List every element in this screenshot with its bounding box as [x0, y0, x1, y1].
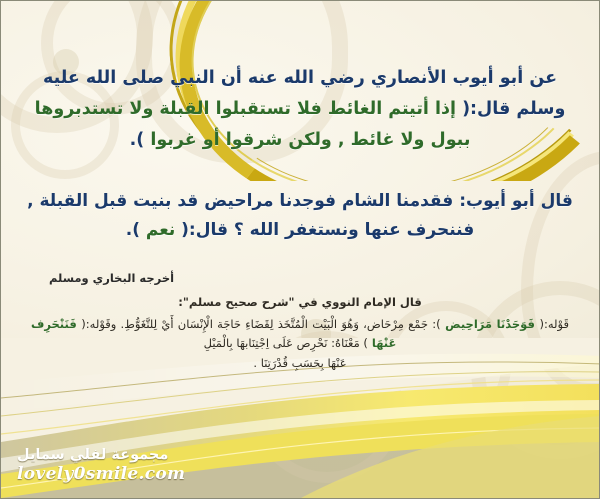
hadith-closing: ). — [130, 130, 145, 150]
hadith-quote: إذا أتيتم الغائط فلا تستقبلوا القبلة ولا… — [35, 99, 471, 150]
commentary-part-3: ) مَعْنَاهُ: نَحْرِص عَلَى اِجْتِنَابهَا… — [204, 336, 368, 350]
statement-quote: نعم — [140, 220, 181, 240]
hadith-text: عن أبو أيوب الأنصاري رضي الله عنه أن الن… — [27, 63, 573, 156]
statement-intro: قال أبو أيوب: فقدمنا الشام فوجدنا مراحيض… — [27, 191, 573, 240]
commentary-part-1: قَوْله:( — [540, 317, 569, 331]
commentary-quote-1: فَوَجَدْنَا مَرَاحِيض — [441, 317, 540, 331]
commentary-last-line: عَنْهَا بِحَسَبِ قُدْرَتِنَا . — [31, 354, 569, 373]
statement-closing: ). — [126, 220, 140, 240]
source-attribution: أخرجه البخاري ومسلم — [49, 271, 174, 285]
narrator-statement-text: قال أبو أيوب: فقدمنا الشام فوجدنا مراحيض… — [27, 187, 573, 245]
commentary-body: قَوْله:( فَوَجَدْنَا مَرَاحِيض ): جَمْع … — [31, 315, 569, 353]
hadith-card: عن أبو أيوب الأنصاري رضي الله عنه أن الن… — [0, 0, 600, 499]
commentary-block: قال الإمام النووي في "شرح صحيح مسلم": قَ… — [31, 293, 569, 373]
commentary-heading: قال الإمام النووي في "شرح صحيح مسلم": — [31, 293, 569, 312]
commentary-part-2: ): جَمْع مِرْحَاض، وَهُوَ الْبَيْت الْمُ… — [81, 317, 440, 331]
